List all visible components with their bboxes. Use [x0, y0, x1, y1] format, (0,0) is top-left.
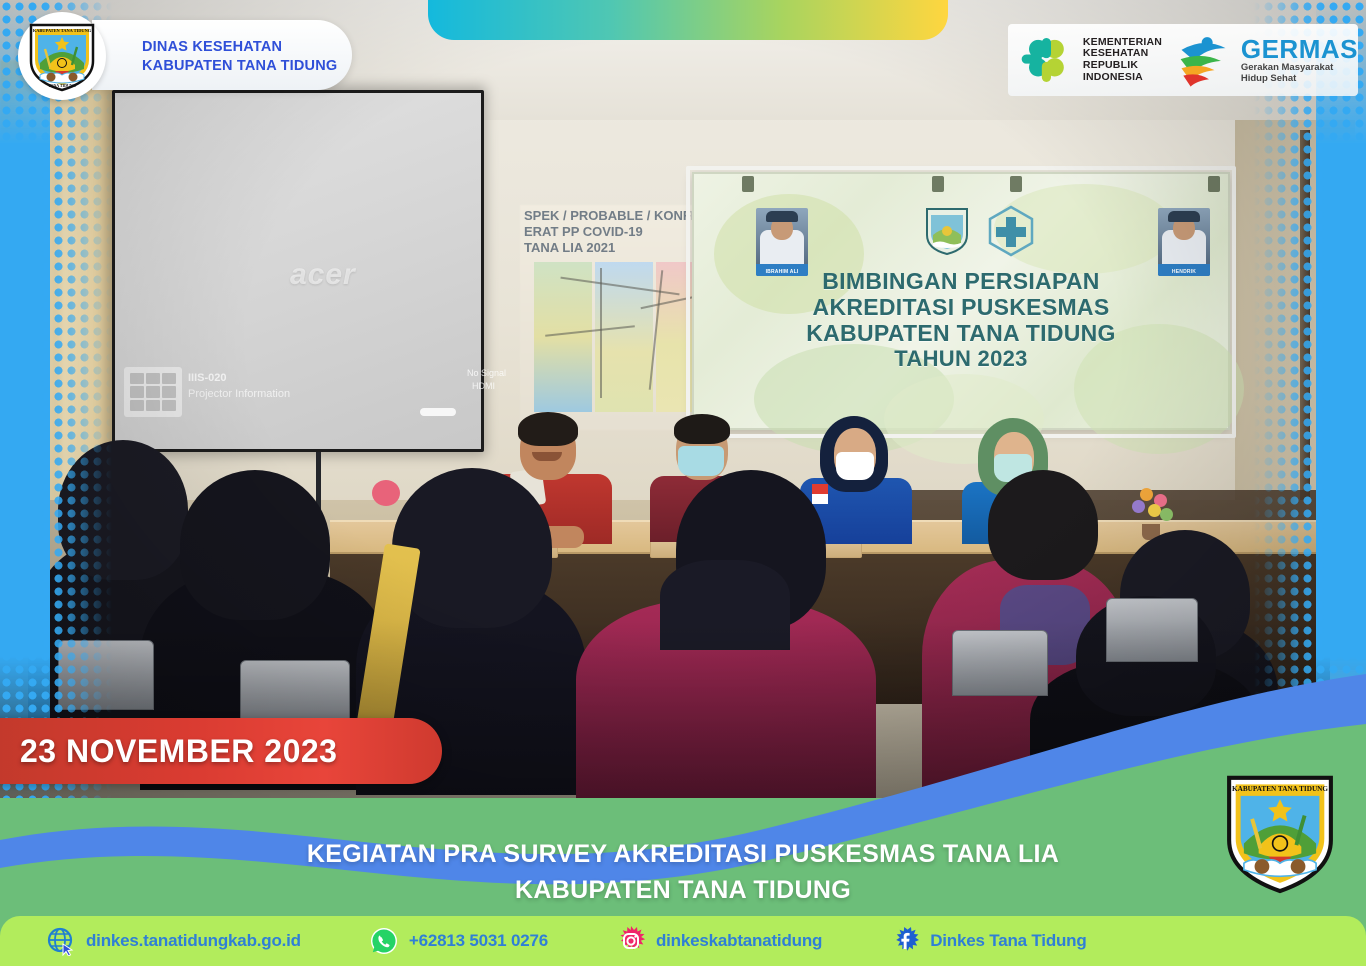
poster-root: SPEK / PROBABLE / KONFIR ERAT PP COVID-1…	[0, 0, 1366, 966]
projector-status-line-2: HDMI	[472, 381, 495, 391]
crest-top-text: KABUPATEN TANA TIDUNG	[33, 28, 92, 33]
footer-website-text: dinkes.tanatidungkab.go.id	[86, 931, 301, 951]
backdrop-banner-title: BIMBINGAN PERSIAPAN AKREDITASI PUSKESMAS…	[700, 268, 1222, 372]
date-badge: 23 NOVEMBER 2023	[0, 718, 442, 784]
footer-item-website[interactable]: dinkes.tanatidungkab.go.id	[46, 926, 301, 956]
kemenkes-line-3: REPUBLIK	[1083, 60, 1162, 72]
germas-wordmark: GERMAS Gerakan Masyarakat Hidup Sehat	[1241, 36, 1358, 84]
backdrop-portrait-left: IBRAHIM ALI	[756, 208, 808, 276]
footer-item-facebook[interactable]: Dinkes Tana Tidung	[890, 926, 1086, 956]
backdrop-line-4: TAHUN 2023	[700, 346, 1222, 372]
kemenkes-line-4: INDONESIA	[1083, 72, 1162, 84]
regency-shield-icon	[925, 205, 969, 255]
footer-crest-top-text: KABUPATEN TANA TIDUNG	[1232, 785, 1328, 793]
partner-logos-card: KEMENTERIAN KESEHATAN REPUBLIK INDONESIA…	[1008, 24, 1358, 96]
header-crest-badge: KABUPATEN TANA TIDUNG TANA TIDUNG	[18, 12, 106, 100]
kemenkes-wordmark: KEMENTERIAN KESEHATAN REPUBLIK INDONESIA	[1083, 37, 1162, 83]
footer-crest-icon: KABUPATEN TANA TIDUNG	[1222, 768, 1338, 896]
footer-whatsapp-text: +62813 5031 0276	[409, 931, 548, 951]
facebook-icon	[890, 926, 920, 956]
kemenkes-clover-icon	[1018, 32, 1075, 88]
header-org-line-2: KABUPATEN TANA TIDUNG	[142, 57, 337, 76]
header-org-line-1: DINAS KESEHATAN	[142, 38, 337, 57]
crest-bottom-text: TANA TIDUNG	[48, 83, 76, 88]
backdrop-clip-left	[742, 176, 754, 192]
caption-line-2: KABUPATEN TANA TIDUNG	[0, 872, 1366, 908]
top-gradient-bar	[428, 0, 948, 40]
backdrop-line-1: BIMBINGAN PERSIAPAN	[700, 268, 1222, 294]
backdrop-line-2: AKREDITASI PUSKESMAS	[700, 294, 1222, 320]
footer-item-whatsapp[interactable]: +62813 5031 0276	[369, 926, 548, 956]
backdrop-clip-mid	[932, 176, 944, 192]
instagram-icon	[616, 926, 646, 956]
qr-grid-icon	[124, 367, 182, 417]
backdrop-line-3: KABUPATEN TANA TIDUNG	[700, 320, 1222, 346]
backdrop-clip-right	[1208, 176, 1220, 192]
header-org-text: DINAS KESEHATAN KABUPATEN TANA TIDUNG	[142, 38, 337, 76]
germas-title: GERMAS	[1241, 36, 1358, 62]
projector-status-line-1: No Signal	[467, 368, 506, 378]
germas-figure-icon	[1176, 31, 1233, 89]
projector-osd-pill	[420, 408, 456, 416]
projector-osd-code: IIIS-020	[188, 372, 227, 384]
footer-item-instagram[interactable]: dinkeskabtanatidung	[616, 926, 822, 956]
backdrop-clip-mid2	[1010, 176, 1022, 192]
footer-facebook-text: Dinkes Tana Tidung	[930, 931, 1086, 951]
website-globe-icon	[46, 926, 76, 956]
germas-sub-2: Hidup Sehat	[1241, 73, 1358, 84]
contact-footer: dinkes.tanatidungkab.go.id +62813 5031 0…	[0, 916, 1366, 966]
footer-instagram-text: dinkeskabtanatidung	[656, 931, 822, 951]
whatsapp-icon	[369, 926, 399, 956]
health-cross-hexagon-icon	[985, 205, 1037, 257]
backdrop-portrait-right: HENDRIK	[1158, 208, 1210, 276]
event-caption: KEGIATAN PRA SURVEY AKREDITASI PUSKESMAS…	[0, 836, 1366, 908]
kabupaten-tana-tidung-crest-icon: KABUPATEN TANA TIDUNG TANA TIDUNG	[27, 19, 97, 93]
projector-osd-label: Projector Information	[188, 388, 290, 400]
acer-logo: acer	[290, 258, 356, 292]
caption-line-1: KEGIATAN PRA SURVEY AKREDITASI PUSKESMAS…	[0, 836, 1366, 872]
date-badge-label: 23 NOVEMBER 2023	[20, 733, 337, 770]
